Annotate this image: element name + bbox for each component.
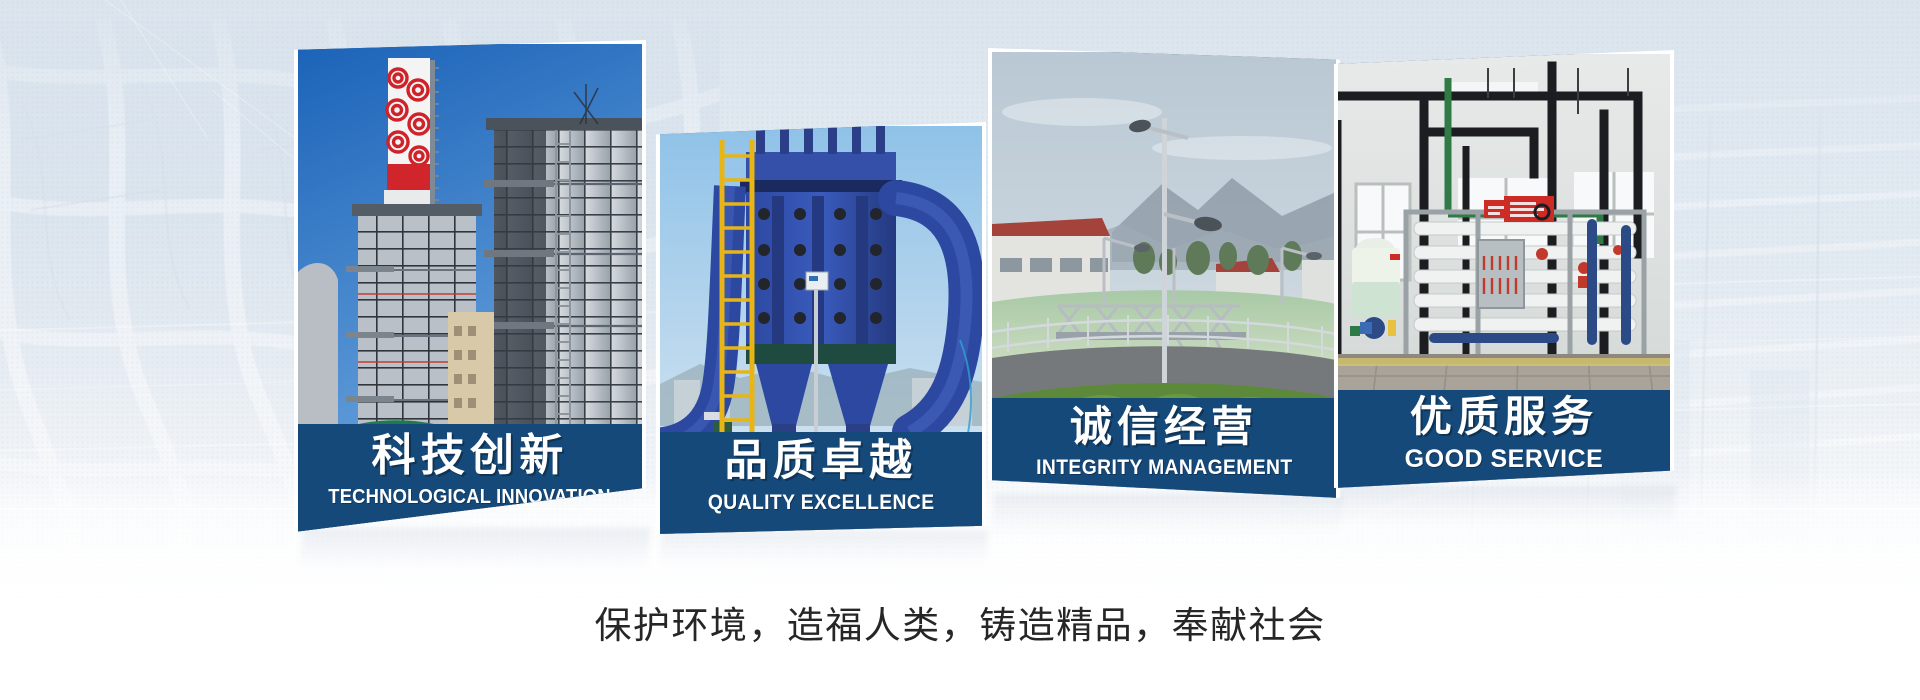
- caption-cn: 品质卓越: [725, 440, 918, 483]
- caption-quality-excellence: 品质卓越 QUALITY EXCELLENCE: [660, 432, 982, 534]
- caption-en: GOOD SERVICE: [1405, 446, 1604, 472]
- tagline: 保护环境，造福人类，铸造精品，奉献社会: [0, 595, 1920, 649]
- panel-technological-innovation[interactable]: 科技创新 TECHNOLOGICAL INNOVATION: [294, 40, 646, 532]
- caption-cn: 科技创新: [371, 434, 568, 478]
- caption-technological-innovation: 科技创新 TECHNOLOGICAL INNOVATION: [298, 424, 642, 532]
- panel-integrity-management[interactable]: 诚信经营 INTEGRITY MANAGEMENT: [988, 48, 1340, 498]
- caption-en: INTEGRITY MANAGEMENT: [1036, 457, 1292, 479]
- panel-good-service[interactable]: 优质服务 GOOD SERVICE: [1334, 50, 1674, 488]
- caption-good-service: 优质服务 GOOD SERVICE: [1338, 390, 1670, 488]
- caption-en: QUALITY EXCELLENCE: [708, 492, 935, 514]
- caption-cn: 诚信经营: [1070, 406, 1258, 448]
- caption-en: TECHNOLOGICAL INNOVATION: [329, 487, 611, 508]
- panel-quality-excellence[interactable]: 品质卓越 QUALITY EXCELLENCE: [656, 122, 986, 534]
- caption-integrity-management: 诚信经营 INTEGRITY MANAGEMENT: [992, 398, 1336, 498]
- caption-cn: 优质服务: [1410, 396, 1598, 438]
- banner-stage: 科技创新 TECHNOLOGICAL INNOVATION: [0, 0, 1920, 700]
